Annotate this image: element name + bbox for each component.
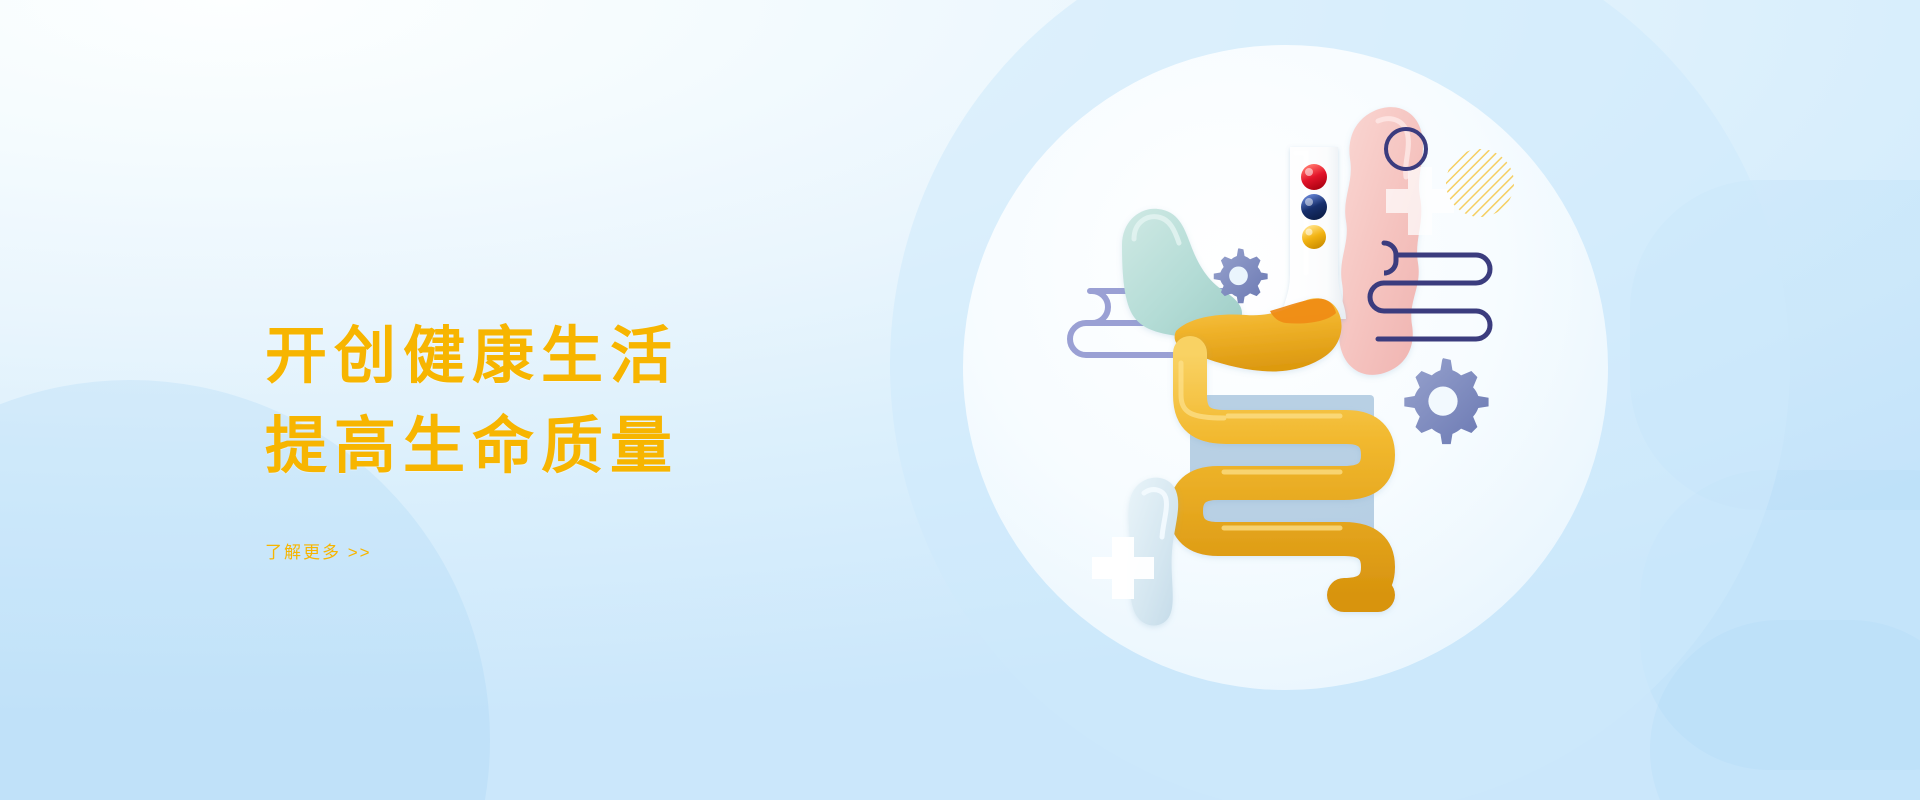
- background-rounded-shape-2: [1640, 470, 1920, 770]
- hero-banner: 开创健康生活 提高生命质量 了解更多 >>: [0, 0, 1920, 800]
- gallbladder-icon: [1129, 478, 1179, 626]
- hero-copy: 开创健康生活 提高生命质量 了解更多 >>: [265, 312, 905, 563]
- digestive-system-illustration: [1078, 95, 1538, 705]
- gear-large-icon: [1404, 358, 1488, 444]
- background-rounded-shape-3: [1650, 620, 1920, 800]
- pill-dot-navy-icon: [1301, 194, 1327, 220]
- headline-line-1: 开创健康生活: [265, 312, 905, 402]
- liver-pink-organ-icon: [1339, 107, 1423, 375]
- learn-more-link[interactable]: 了解更多 >>: [265, 538, 372, 563]
- headline-line-2: 提高生命质量: [265, 402, 905, 492]
- background-rounded-shape-1: [1630, 180, 1920, 510]
- pill-dot-red-icon: [1301, 164, 1327, 190]
- pill-dot-yellow-icon: [1302, 225, 1326, 249]
- hatched-circle-icon: [1446, 149, 1514, 217]
